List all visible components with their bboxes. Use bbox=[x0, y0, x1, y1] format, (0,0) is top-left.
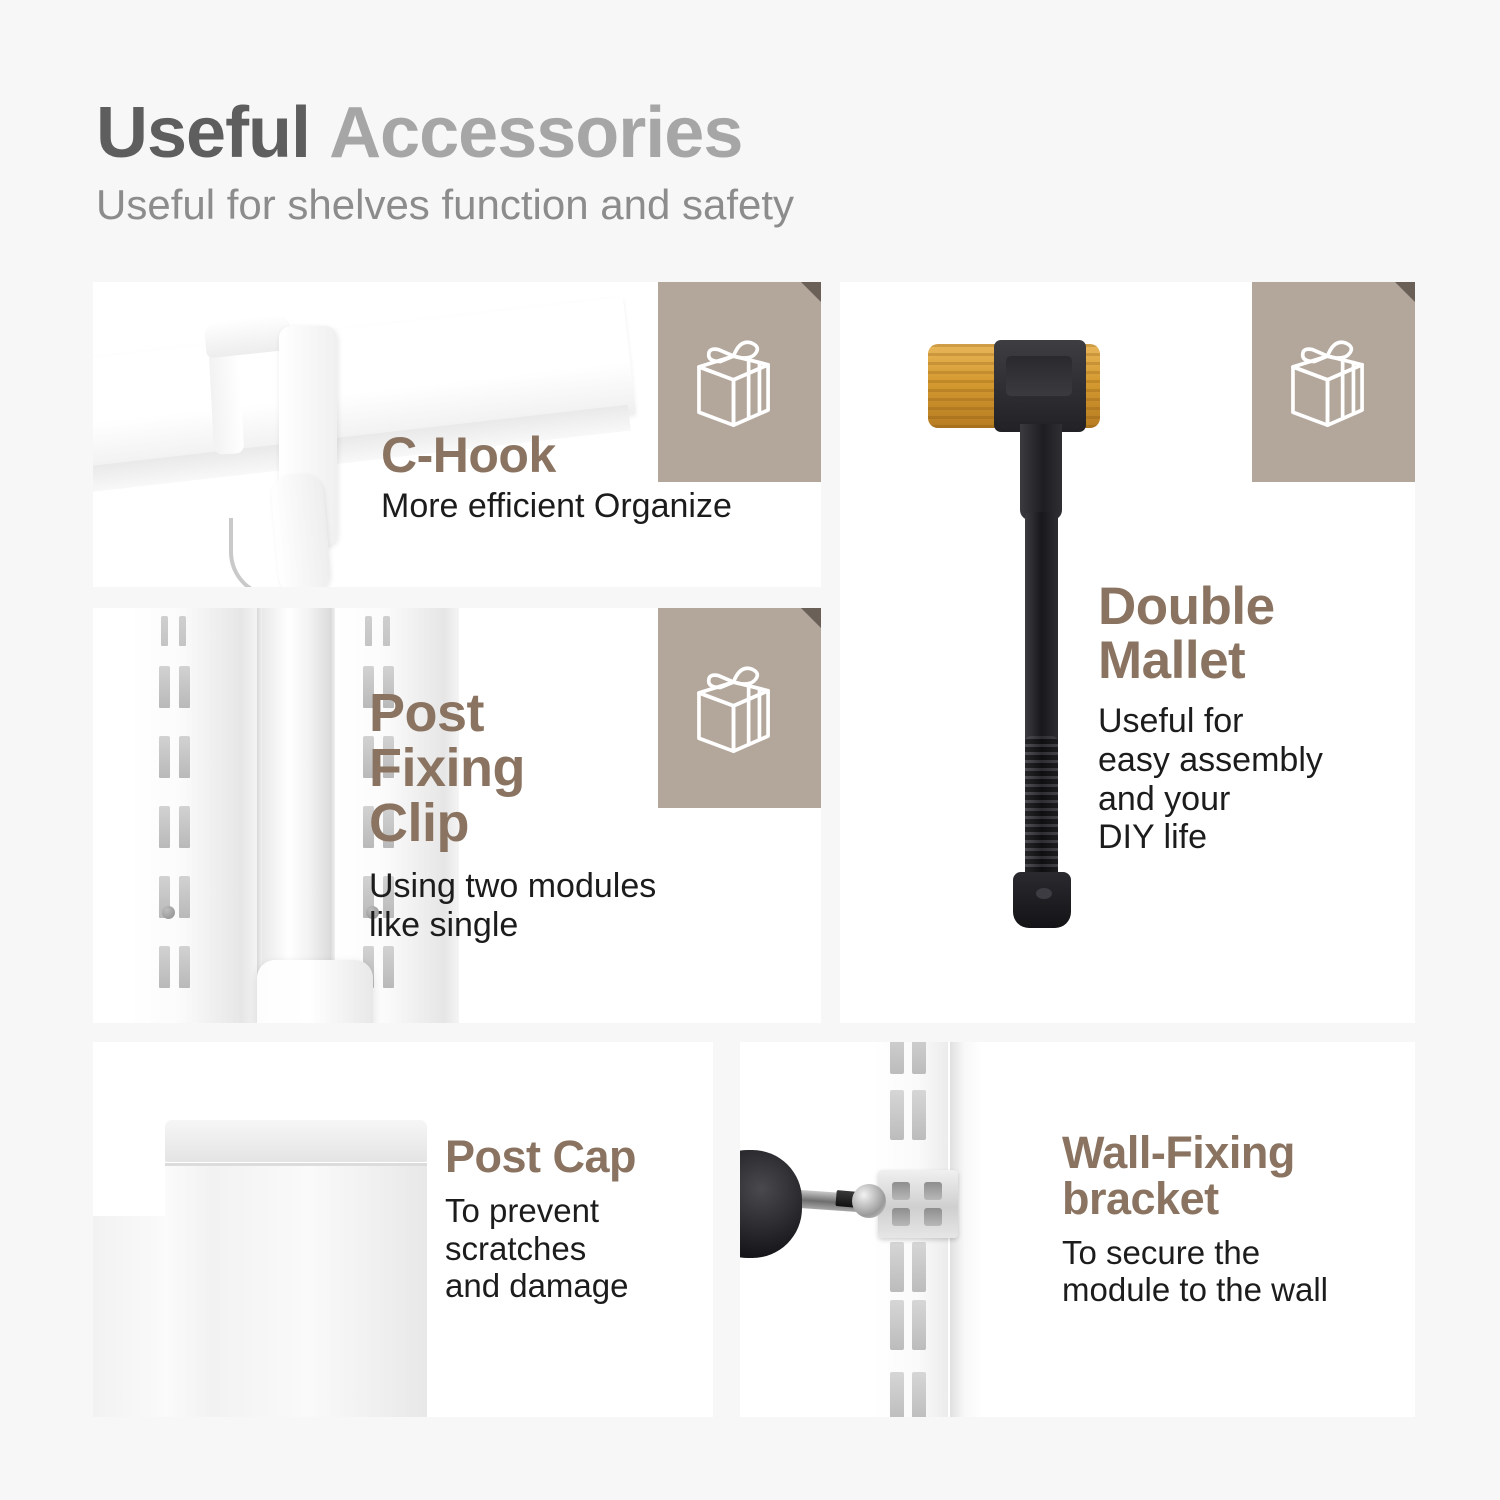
badge-corner-fold bbox=[801, 282, 821, 302]
post-fixing-clip-subtext-line-1: Using two modules bbox=[369, 867, 739, 906]
gift-box-icon bbox=[1280, 328, 1388, 436]
post-slot bbox=[179, 946, 190, 988]
post-slot bbox=[365, 616, 372, 646]
mallet-center-body bbox=[994, 340, 1086, 432]
post-slot bbox=[179, 736, 190, 778]
bracket-hole bbox=[892, 1208, 910, 1226]
post-cap bbox=[165, 1120, 427, 1162]
c-hook-text-block: C-Hook More efficient Organize bbox=[381, 430, 806, 526]
double-mallet-subtext-line-1: Useful for bbox=[1098, 702, 1408, 741]
post-fixing-clip-heading-line-3: Clip bbox=[369, 796, 739, 851]
accessory-card-c-hook[interactable]: C-Hook More efficient Organize bbox=[93, 282, 821, 587]
post-slot bbox=[890, 1372, 904, 1417]
post-cap-seam bbox=[165, 1163, 427, 1166]
post-cap-subtext-line-3: and damage bbox=[445, 1267, 705, 1305]
post-slot bbox=[890, 1242, 904, 1292]
bracket-screw bbox=[852, 1184, 886, 1218]
infographic-page: Useful Accessories Useful for shelves fu… bbox=[0, 0, 1500, 1500]
post-fixing-clip-text-block: Post Fixing Clip Using two modules like … bbox=[369, 686, 739, 945]
post-cap-product-image bbox=[93, 1120, 453, 1417]
post-fixing-clip-heading-line-2: Fixing bbox=[369, 741, 739, 796]
accessory-card-grid: C-Hook More efficient Organize bbox=[0, 0, 1500, 1500]
c-hook-heading: C-Hook bbox=[381, 430, 806, 481]
mallet-handle-end bbox=[1013, 872, 1071, 928]
wall-fixing-bracket-heading-line-1: Wall-Fixing bbox=[1062, 1130, 1402, 1176]
post-slot bbox=[179, 876, 190, 918]
double-mallet-heading-line-2: Mallet bbox=[1098, 634, 1408, 688]
slotted-post-left bbox=[129, 608, 257, 1023]
bracket-hole bbox=[892, 1182, 910, 1200]
wall-fixing-bracket-product-image bbox=[740, 1042, 1040, 1417]
post-slot bbox=[912, 1242, 926, 1292]
c-hook-lower-nub bbox=[270, 472, 332, 587]
gift-box-icon bbox=[686, 328, 794, 436]
post-slot bbox=[179, 666, 190, 708]
wall-fixing-bracket-heading-line-2: bracket bbox=[1062, 1176, 1402, 1222]
wall-fixing-bracket-text-block: Wall-Fixing bracket To secure the module… bbox=[1062, 1130, 1402, 1309]
post-cap-subtext-line-2: scratches bbox=[445, 1230, 705, 1268]
post-slot bbox=[383, 946, 394, 988]
post-slot bbox=[159, 736, 170, 778]
post-slot bbox=[159, 666, 170, 708]
badge-corner-fold bbox=[801, 608, 821, 628]
accessory-card-double-mallet[interactable]: Double Mallet Useful for easy assembly a… bbox=[840, 282, 1415, 1023]
post-slot bbox=[890, 1042, 904, 1074]
bracket-hole bbox=[924, 1182, 942, 1200]
post-cap-text-block: Post Cap To prevent scratches and damage bbox=[445, 1134, 705, 1305]
badge-corner-fold bbox=[1395, 282, 1415, 302]
post-slot bbox=[912, 1372, 926, 1417]
post-slot bbox=[890, 1090, 904, 1140]
double-mallet-heading-line-1: Double bbox=[1098, 580, 1408, 634]
screwdriver-handle bbox=[740, 1150, 802, 1258]
post-body bbox=[165, 1164, 427, 1417]
wall-fixing-bracket bbox=[878, 1170, 958, 1238]
double-mallet-text-block: Double Mallet Useful for easy assembly a… bbox=[1098, 580, 1408, 857]
accessory-card-post-cap[interactable]: Post Cap To prevent scratches and damage bbox=[93, 1042, 713, 1417]
post-fixing-clip-heading-line-1: Post bbox=[369, 686, 739, 741]
post-slot bbox=[383, 616, 390, 646]
gift-badge bbox=[1252, 282, 1415, 482]
post-slot bbox=[890, 1300, 904, 1350]
double-mallet-subtext-line-2: easy assembly bbox=[1098, 741, 1408, 780]
accessory-card-post-fixing-clip[interactable]: Post Fixing Clip Using two modules like … bbox=[93, 608, 821, 1023]
mallet-grip bbox=[1025, 736, 1058, 884]
accessory-card-wall-fixing-bracket[interactable]: Wall-Fixing bracket To secure the module… bbox=[740, 1042, 1415, 1417]
wall-fixing-bracket-subtext-line-2: module to the wall bbox=[1062, 1271, 1402, 1309]
post-rivet bbox=[162, 906, 175, 919]
double-mallet-subtext-line-3: and your bbox=[1098, 780, 1408, 819]
post-slot bbox=[912, 1300, 926, 1350]
secondary-post bbox=[93, 1216, 171, 1417]
double-mallet-subtext-line-4: DIY life bbox=[1098, 818, 1408, 857]
post-slot bbox=[179, 806, 190, 848]
post-fixing-clip bbox=[257, 960, 373, 1023]
post-cap-heading: Post Cap bbox=[445, 1134, 705, 1180]
post-slot bbox=[159, 946, 170, 988]
post-slot bbox=[161, 616, 168, 646]
mallet-neck bbox=[1020, 424, 1062, 520]
post-slot bbox=[912, 1090, 926, 1140]
post-slot bbox=[912, 1042, 926, 1074]
post-cap-subtext-line-1: To prevent bbox=[445, 1192, 705, 1230]
mallet-face-plate bbox=[1006, 356, 1072, 396]
post-slot bbox=[159, 806, 170, 848]
mallet-hang-hole bbox=[1036, 888, 1052, 899]
c-hook-subtext: More efficient Organize bbox=[381, 487, 806, 526]
post-fixing-clip-subtext-line-2: like single bbox=[369, 906, 739, 945]
bracket-hole bbox=[924, 1208, 942, 1226]
wall-fixing-bracket-subtext-line-1: To secure the bbox=[1062, 1234, 1402, 1272]
post-slot bbox=[179, 616, 186, 646]
